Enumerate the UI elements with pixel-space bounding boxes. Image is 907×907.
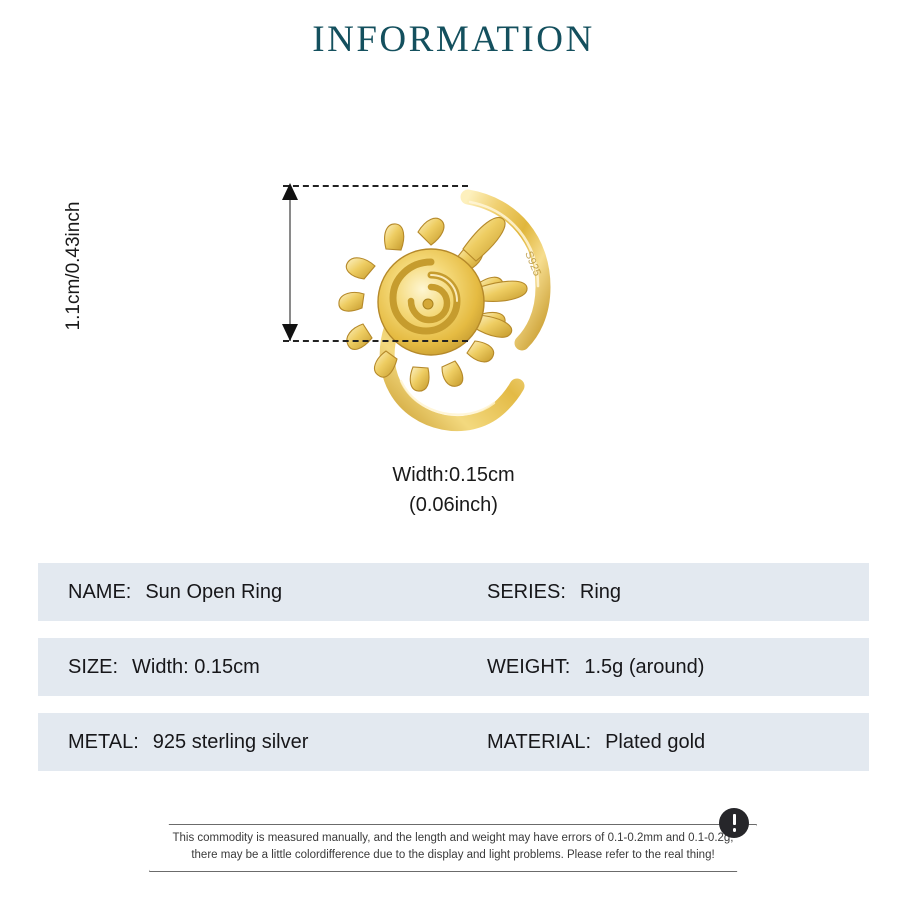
info-value-metal: 925 sterling silver xyxy=(153,731,309,754)
product-info-table: NAME: Sun Open Ring SERIES: Ring SIZE: W… xyxy=(38,563,869,788)
info-cell-series: SERIES: Ring xyxy=(487,581,621,604)
disclaimer-line-1: This commodity is measured manually, and… xyxy=(149,830,757,847)
info-label-metal: METAL: xyxy=(68,731,139,754)
dimension-height-label: 1.1cm/0.43inch xyxy=(63,181,85,351)
dimension-arrow-down-icon xyxy=(282,324,298,341)
disclaimer-line-2: there may be a little colordifference du… xyxy=(149,847,757,864)
table-row: NAME: Sun Open Ring SERIES: Ring xyxy=(38,563,869,621)
info-label-size: SIZE: xyxy=(68,656,118,679)
info-label-name: NAME: xyxy=(68,581,131,604)
info-value-material: Plated gold xyxy=(605,731,705,754)
info-cell-weight: WEIGHT: 1.5g (around) xyxy=(487,656,704,679)
info-label-material: MATERIAL: xyxy=(487,731,591,754)
info-cell-material: MATERIAL: Plated gold xyxy=(487,731,705,754)
table-row: SIZE: Width: 0.15cm WEIGHT: 1.5g (around… xyxy=(38,638,869,696)
info-label-weight: WEIGHT: xyxy=(487,656,570,679)
disclaimer-banner: This commodity is measured manually, and… xyxy=(0,820,907,882)
exclamation-dot xyxy=(733,828,737,832)
info-value-name: Sun Open Ring xyxy=(145,581,282,604)
info-cell-size: SIZE: Width: 0.15cm xyxy=(38,656,487,679)
exclamation-icon xyxy=(719,808,749,838)
info-value-size: Width: 0.15cm xyxy=(132,656,260,679)
dimension-width-label: Width:0.15cm (0.06inch) xyxy=(0,460,907,520)
info-label-series: SERIES: xyxy=(487,581,566,604)
info-cell-metal: METAL: 925 sterling silver xyxy=(38,731,487,754)
product-figure: S925 xyxy=(0,150,907,550)
dimension-arrow-up-icon xyxy=(282,183,298,200)
ring-product-image: S925 xyxy=(300,175,590,465)
dimension-width-line2: (0.06inch) xyxy=(0,490,907,520)
info-cell-name: NAME: Sun Open Ring xyxy=(38,581,487,604)
disclaimer-text: This commodity is measured manually, and… xyxy=(149,830,757,864)
page-title: INFORMATION xyxy=(0,18,907,61)
dimension-guide-top xyxy=(283,185,468,187)
dimension-width-line1: Width:0.15cm xyxy=(0,460,907,490)
info-value-series: Ring xyxy=(580,581,621,604)
table-row: METAL: 925 sterling silver MATERIAL: Pla… xyxy=(38,713,869,771)
info-value-weight: 1.5g (around) xyxy=(584,656,704,679)
exclamation-bar xyxy=(733,814,737,825)
dimension-measure-line xyxy=(289,185,291,341)
dimension-guide-bottom xyxy=(283,340,468,342)
